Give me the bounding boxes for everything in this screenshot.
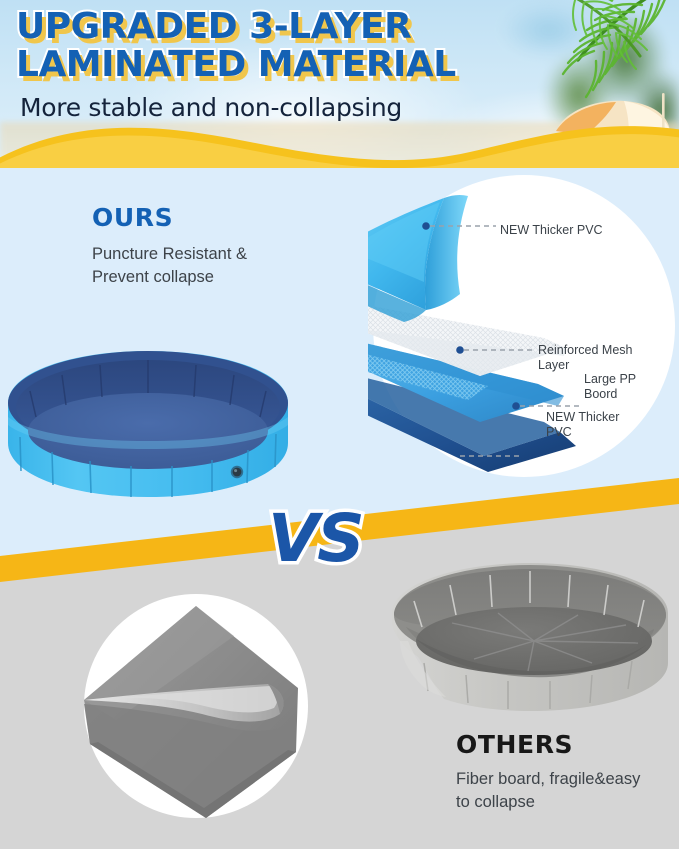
blue-pet-pool-illustration [0,325,296,510]
page-title-line1: UPGRADED 3-LAYER [16,8,486,46]
others-description: Fiber board, fragile&easy to collapse [456,768,646,814]
callout-label-top-pvc: NEW Thicker PVC [500,223,650,238]
callout-label-bottom-pvc: NEW Thicker PVC [546,410,638,441]
page-title-line2: LAMINATED MATERIAL [16,46,486,84]
ours-label: OURS [92,203,173,232]
page-title: UPGRADED 3-LAYER LAMINATED MATERIAL [16,8,486,84]
gray-pet-pool-illustration [378,545,678,735]
callout-label-mesh: Reinforced Mesh Layer [538,343,648,374]
material-closeup-circle [82,592,310,820]
ours-description: Puncture Resistant & Prevent collapse [92,243,292,289]
others-label: OTHERS [456,730,573,759]
callout-label-pp-board: Large PP Boord [584,372,662,403]
page-subtitle: More stable and non-collapsing [20,93,500,122]
vs-badge: VS [268,500,363,577]
palm-frond-secondary-icon [564,0,679,82]
infographic-root: UPGRADED 3-LAYER LAMINATED MATERIAL More… [0,0,679,849]
